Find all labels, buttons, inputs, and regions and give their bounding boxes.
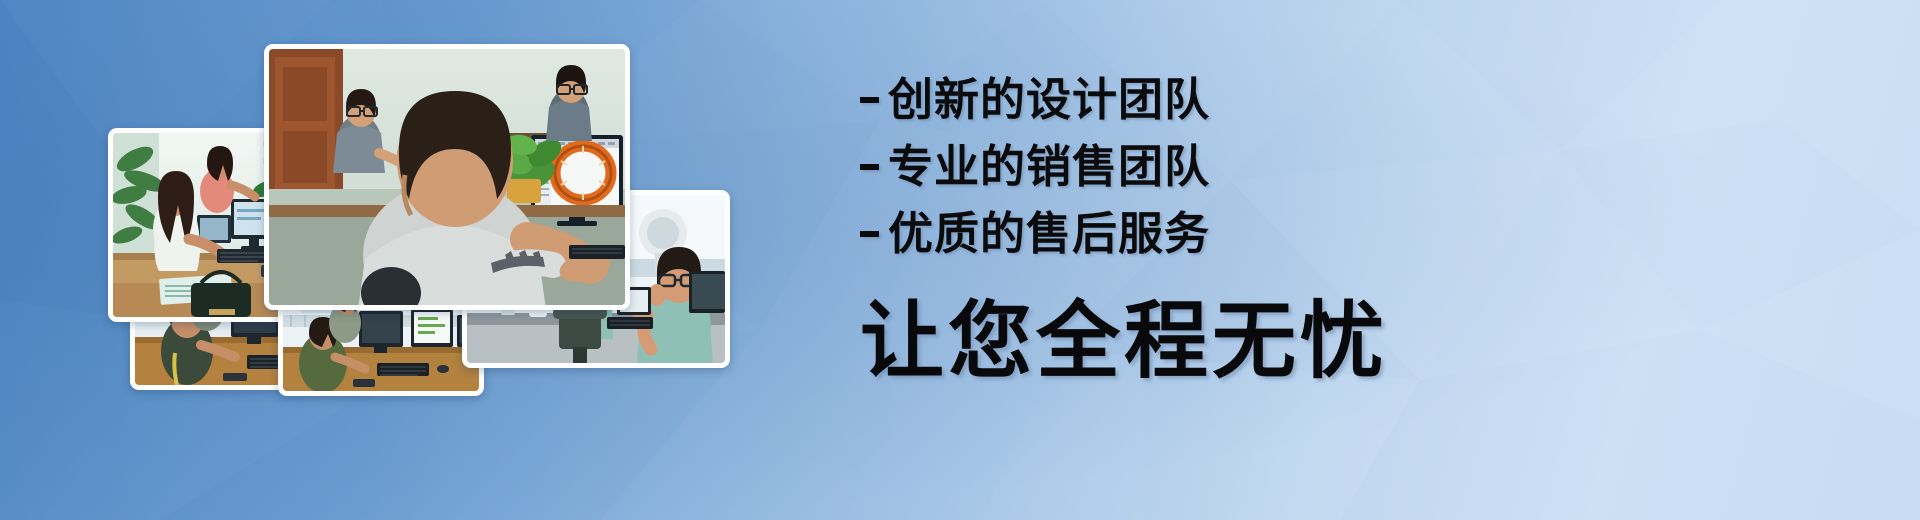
photo-collage [0, 0, 760, 520]
promo-banner: 创新的设计团队 专业的销售团队 优质的售后服务 让您全程无忧 [0, 0, 1920, 520]
promo-copy: 创新的设计团队 专业的销售团队 优质的售后服务 让您全程无忧 [860, 66, 1380, 387]
bullet-label: 创新的设计团队 [888, 66, 1210, 133]
dash-icon [860, 97, 879, 103]
bullet-label: 专业的销售团队 [888, 133, 1210, 200]
headline: 让您全程无忧 [860, 295, 1380, 387]
bullet-item-after-sales-service: 优质的售后服务 [860, 200, 1380, 267]
dash-icon [860, 231, 879, 237]
bullet-label: 优质的售后服务 [888, 200, 1210, 267]
bullet-item-design-team: 创新的设计团队 [860, 66, 1380, 133]
dash-icon [860, 164, 879, 170]
bullet-list: 创新的设计团队 专业的销售团队 优质的售后服务 [860, 66, 1380, 267]
bullet-item-sales-team: 专业的销售团队 [860, 133, 1380, 200]
photo-engineer-cad [264, 44, 630, 310]
